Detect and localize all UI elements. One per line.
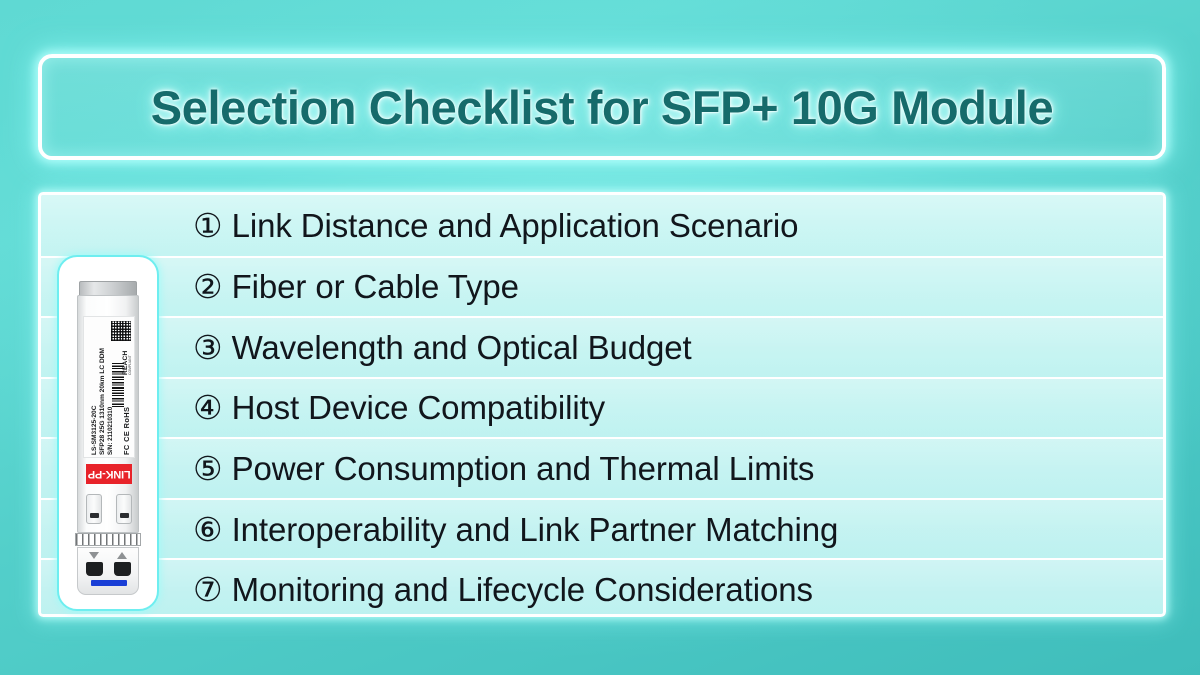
module-latch-group [86,494,132,524]
list-item: ⑦ Monitoring and Lifecycle Consideration… [41,558,1163,617]
list-item-marker: ③ [193,331,223,364]
brand-logo: LINK-PP [86,464,132,484]
module-latch-left [86,494,102,524]
checklist-panel: ① Link Distance and Application Scenario… [38,192,1166,617]
list-item-label: Power Consumption and Thermal Limits [232,452,815,485]
list-item: ② Fiber or Cable Type [41,256,1163,317]
emi-finger-strip [75,533,141,546]
list-item: ① Link Distance and Application Scenario [41,195,1163,256]
list-item-label: Fiber or Cable Type [232,270,519,303]
list-item-label: Host Device Compatibility [232,391,605,424]
wavelength-color-bar [91,580,127,586]
label-part-number: LS-SM3125-20C [91,406,98,455]
list-item-label: Interoperability and Link Partner Matchi… [232,513,839,546]
list-item: ④ Host Device Compatibility [41,377,1163,438]
label-serial-number: S/N: 2110210310 [107,407,114,455]
module-label: LS-SM3125-20C SFP28 25G 1310nm 20km LC D… [83,316,135,458]
page-title: Selection Checklist for SFP+ 10G Module [151,80,1053,135]
list-item-marker: ④ [193,391,223,424]
module-housing: LS-SM3125-20C SFP28 25G 1310nm 20km LC D… [77,295,139,533]
product-image-card: LS-SM3125-20C SFP28 25G 1310nm 20km LC D… [57,255,159,611]
list-item: ③ Wavelength and Optical Budget [41,316,1163,377]
list-item-marker: ⑥ [193,513,223,546]
brand-logo-text: LINK-PP [88,468,131,480]
title-banner: Selection Checklist for SFP+ 10G Module [38,54,1166,160]
list-item-marker: ⑦ [193,573,223,606]
list-item-marker: ① [193,209,223,242]
lc-port-rx [114,562,131,576]
label-certifications: FC CE RoHS [122,407,131,455]
module-latch-right [116,494,132,524]
qr-code-icon [111,321,131,341]
list-item-label: Link Distance and Application Scenario [232,209,799,242]
list-item-label: Wavelength and Optical Budget [232,331,692,364]
rx-direction-arrow-icon [117,552,127,559]
list-item: ⑤ Power Consumption and Thermal Limits [41,437,1163,498]
tx-direction-arrow-icon [89,552,99,559]
list-item-label: Monitoring and Lifecycle Considerations [232,573,813,606]
lc-duplex-receptacle [77,547,139,595]
list-item: ⑥ Interoperability and Link Partner Matc… [41,498,1163,559]
list-item-marker: ⑤ [193,452,223,485]
label-reach-sublabel: COMPLIANT [128,355,132,375]
sfp-transceiver-module: LS-SM3125-20C SFP28 25G 1310nm 20km LC D… [77,281,139,599]
lc-port-tx [86,562,103,576]
label-description: SFP28 25G 1310nm 20km LC DDM [99,348,106,455]
list-item-marker: ② [193,270,223,303]
